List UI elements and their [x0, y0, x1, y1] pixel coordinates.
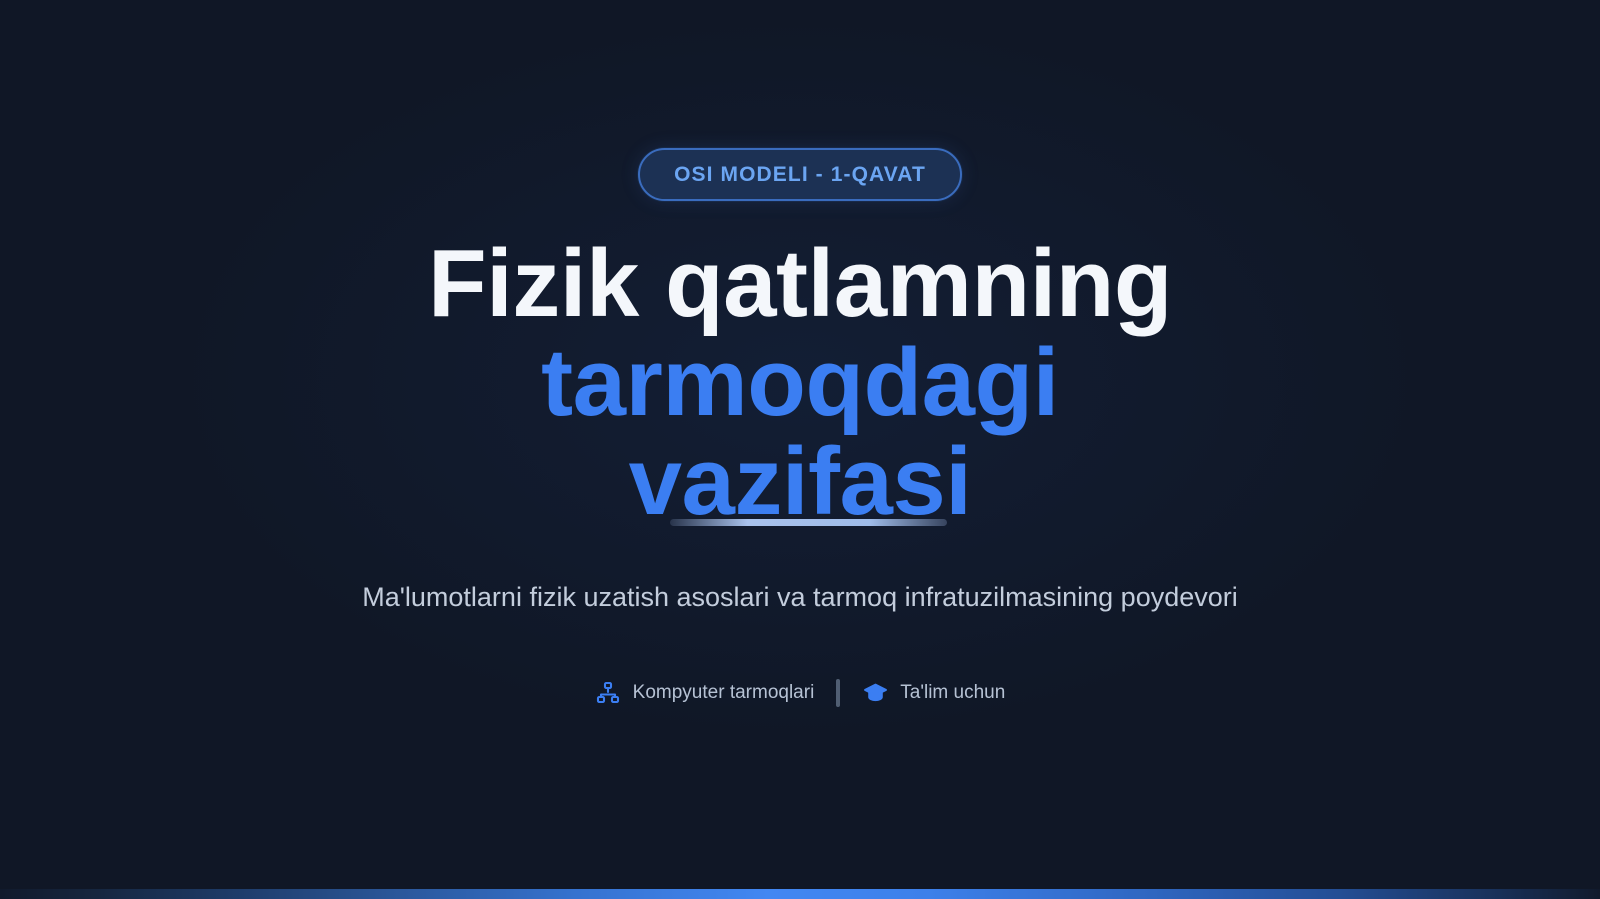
- meta-item-subject-label: Kompyuter tarmoqlari: [633, 682, 815, 704]
- meta-separator: [836, 679, 840, 707]
- page-title-line-3-wrap: vazifasi: [428, 433, 1172, 532]
- graduation-cap-icon: [862, 680, 888, 706]
- page-title-line-2: tarmoqdagi: [428, 334, 1172, 433]
- osi-layer-badge: OSI MODELI - 1-QAVAT: [638, 148, 962, 201]
- slide-meta-row: Kompyuter tarmoqlari Ta'lim uchun: [595, 679, 1006, 707]
- slide-root: OSI MODELI - 1-QAVAT Fizik qatlamning ta…: [0, 0, 1600, 899]
- meta-item-subject: Kompyuter tarmoqlari: [595, 680, 815, 706]
- osi-layer-badge-label: OSI MODELI - 1-QAVAT: [674, 163, 926, 187]
- page-title: Fizik qatlamning tarmoqdagi vazifasi: [428, 235, 1172, 532]
- page-subtitle: Ma'lumotlarni fizik uzatish asoslari va …: [362, 578, 1238, 617]
- slide-progress-bar: [0, 889, 1600, 899]
- network-hierarchy-icon: [595, 680, 621, 706]
- page-title-line-3: vazifasi: [629, 433, 972, 532]
- page-title-line-1: Fizik qatlamning: [428, 235, 1172, 334]
- meta-item-purpose: Ta'lim uchun: [862, 680, 1005, 706]
- slide-content: OSI MODELI - 1-QAVAT Fizik qatlamning ta…: [0, 0, 1600, 707]
- meta-item-purpose-label: Ta'lim uchun: [900, 682, 1005, 704]
